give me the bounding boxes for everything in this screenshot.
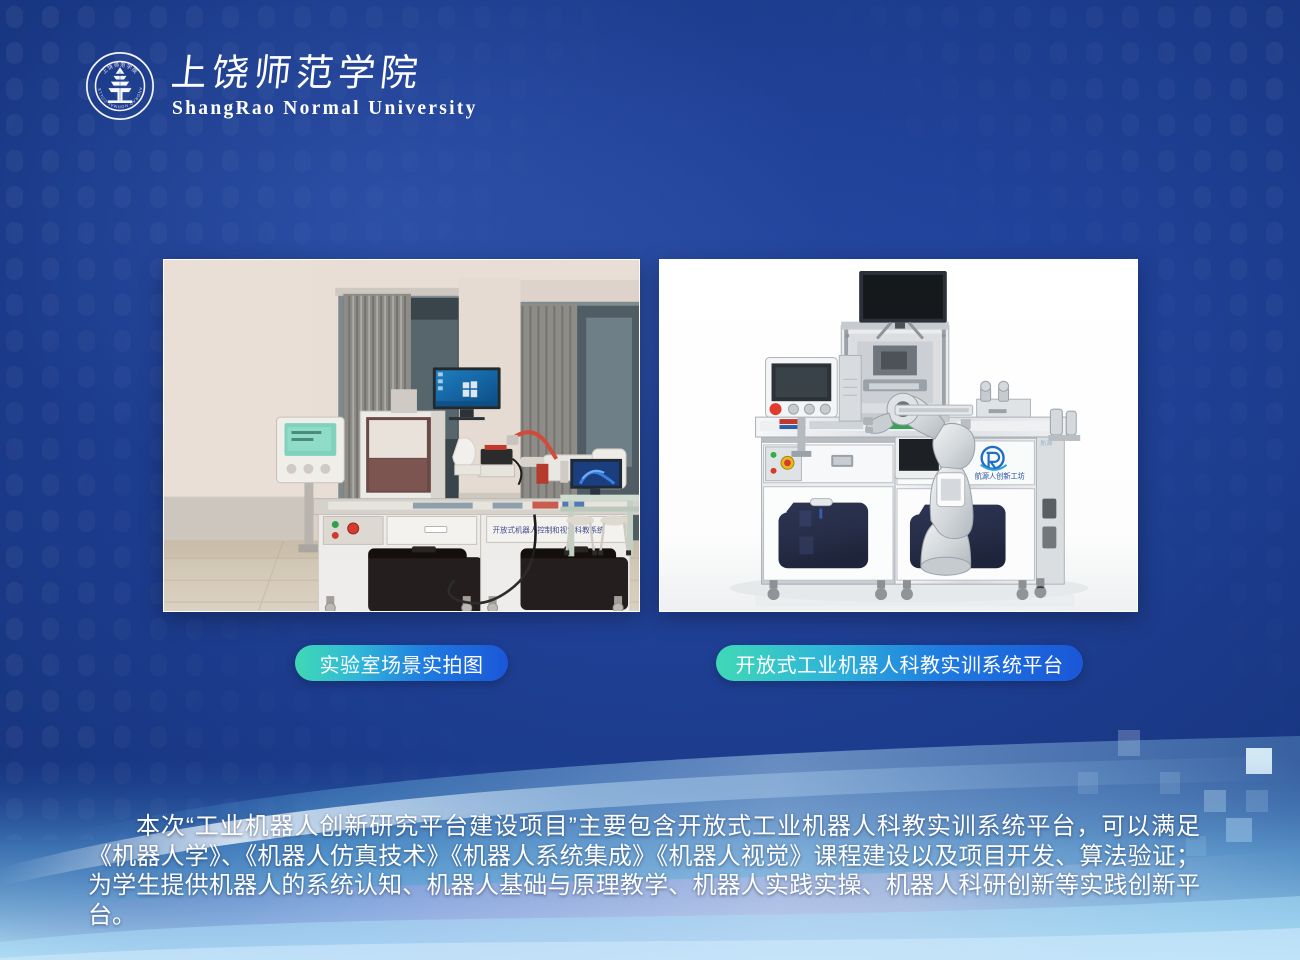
caption-pill-lab-scene[interactable]: 实验室场景实拍图 — [295, 645, 508, 681]
university-name-en: ShangRao Normal University — [172, 98, 478, 120]
university-seal-icon: 上饶师范学院 SHANGRAO NORMAL COLLEGE — [84, 50, 156, 122]
training-platform-render[interactable]: 航源人创新工坊 航源 — [659, 259, 1138, 612]
description-paragraph: 本次“工业机器人创新研究平台建设项目”主要包含开放式工业机器人科教实训系统平台，… — [88, 812, 1200, 930]
slide-stage: 上饶师范学院 SHANGRAO NORMAL COLLEGE — [0, 0, 1300, 960]
svg-text:航源人创新工坊: 航源人创新工坊 — [975, 472, 1025, 481]
svg-text:上饶师范学院: 上饶师范学院 — [172, 53, 424, 95]
caption-pill-training-platform-label: 开放式工业机器人科教实训系统平台 — [736, 649, 1064, 678]
university-logo: 上饶师范学院 SHANGRAO NORMAL COLLEGE — [84, 50, 478, 122]
university-name: 上饶师范学院 ShangRao Normal University — [172, 52, 478, 120]
caption-pill-training-platform[interactable]: 开放式工业机器人科教实训系统平台 — [716, 645, 1083, 681]
lab-scene-photo[interactable]: DOBOT — [163, 259, 640, 612]
university-name-cn: 上饶师范学院 — [172, 52, 459, 96]
caption-pill-lab-scene-label: 实验室场景实拍图 — [320, 649, 484, 678]
svg-text:开放式机器人控制和视觉科教系统: 开放式机器人控制和视觉科教系统 — [493, 524, 605, 534]
